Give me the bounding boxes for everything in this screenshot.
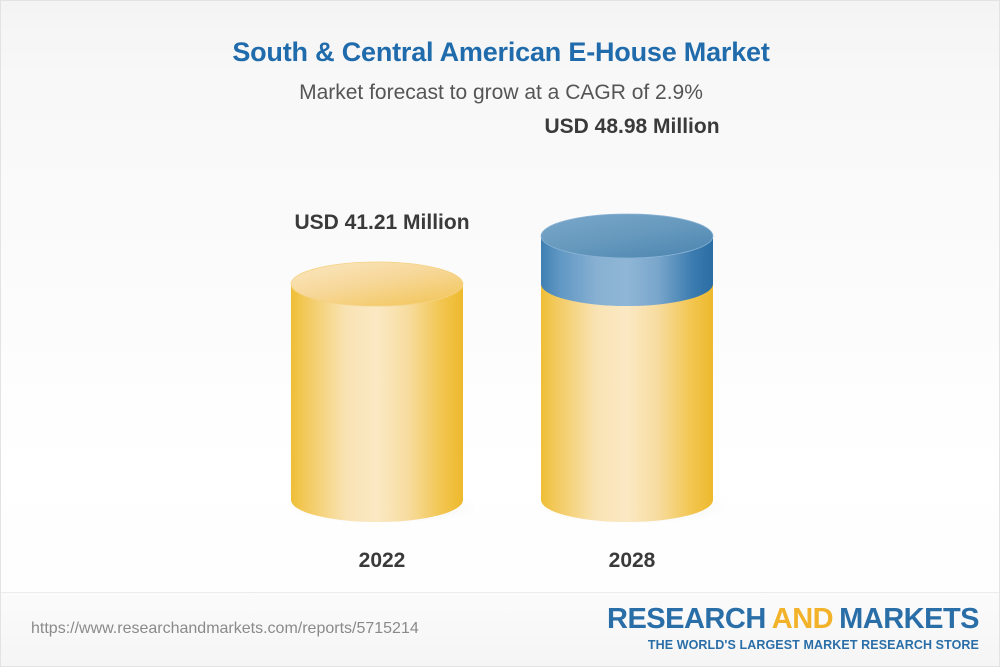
logo-and: AND [772, 603, 833, 635]
chart-footer: https://www.researchandmarkets.com/repor… [1, 592, 1000, 666]
chart-page: South & Central American E-House Market … [0, 0, 1000, 667]
bar-group-2022: USD 41.21 Million [289, 258, 475, 526]
bar-value-label-2028: USD 48.98 Million [544, 114, 719, 140]
cylinder-base-segment-2028 [541, 284, 713, 522]
bar-category-label-2022: 2022 [359, 548, 406, 574]
logo-research: RESEARCH [607, 603, 766, 635]
cylinder-bar-2028[interactable] [539, 210, 725, 526]
report-url[interactable]: https://www.researchandmarkets.com/repor… [31, 620, 419, 638]
cylinder-body-2022 [291, 284, 463, 522]
bar-group-2028: USD 48.98 Million [539, 210, 725, 526]
logo-tagline: THE WORLD'S LARGEST MARKET RESEARCH STOR… [607, 637, 979, 653]
bar-value-label-2022: USD 41.21 Million [294, 210, 469, 236]
bar-category-label-2028: 2028 [609, 548, 656, 574]
logo-markets: MARKETS [839, 603, 979, 635]
logo-wordmark: RESEARCHANDMARKETS [607, 603, 979, 636]
research-and-markets-logo[interactable]: RESEARCHANDMARKETS THE WORLD'S LARGEST M… [607, 603, 979, 653]
cylinder-bar-2022[interactable] [289, 258, 475, 526]
chart-plot-area: USD 41.21 Million [1, 1, 1000, 601]
